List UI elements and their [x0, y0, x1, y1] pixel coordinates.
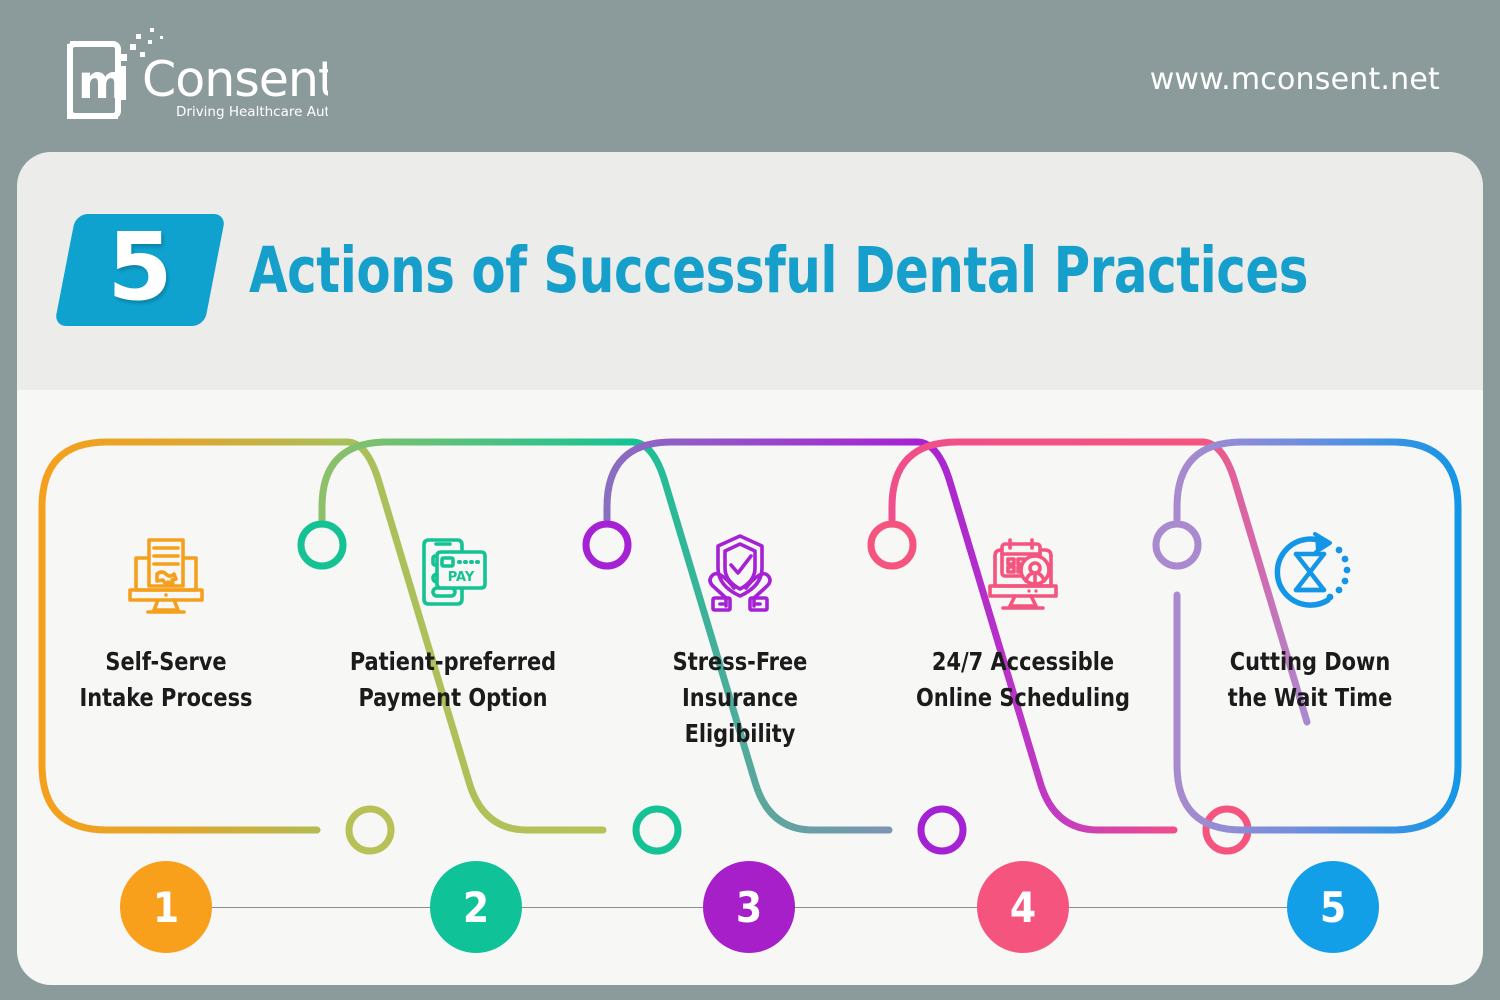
step-number-3[interactable]: 3	[703, 861, 795, 953]
step-number-5[interactable]: 5	[1287, 861, 1379, 953]
logo-tagline: Driving Healthcare Automation	[176, 104, 328, 120]
step-4-label: 24/7 Accessible Online Scheduling	[907, 644, 1140, 716]
step-5[interactable]: Cutting Down the Wait Time	[1185, 522, 1435, 716]
logo-mconsent[interactable]: m Consent Driving Healthcare Automation	[58, 24, 328, 124]
header-number-badge-text: 5	[65, 214, 215, 326]
step-4[interactable]: 24/7 Accessible Online Scheduling	[898, 522, 1148, 716]
header-panel: 5 Actions of Successful Dental Practices	[17, 152, 1483, 390]
svg-text:m: m	[78, 55, 126, 109]
svg-text:Consent: Consent	[142, 51, 328, 108]
hourglass-refresh-icon	[1185, 522, 1435, 622]
phone-credit-card-pay-icon: PAY	[328, 522, 578, 622]
step-3-label: Stress-Free Insurance Eligibility	[624, 644, 857, 752]
step-number-1[interactable]: 1	[120, 861, 212, 953]
step-3[interactable]: Stress-Free Insurance Eligibility	[615, 522, 865, 752]
monitor-document-signature-icon	[41, 522, 291, 622]
step-1[interactable]: Self-Serve Intake Process	[41, 522, 291, 716]
step-number-4[interactable]: 4	[977, 861, 1069, 953]
shield-check-hands-icon	[615, 522, 865, 622]
pay-label: PAY	[448, 570, 475, 585]
header-number-badge: 5	[54, 214, 226, 326]
step-2[interactable]: PAY Patient-preferred Payment Option	[328, 522, 578, 716]
step-ring-2-bottom	[636, 809, 678, 851]
page-title: Actions of Successful Dental Practices	[249, 214, 1308, 326]
step-ring-1-bottom	[349, 809, 391, 851]
step-number-2[interactable]: 2	[430, 861, 522, 953]
top-bar: m Consent Driving Healthcare Automation …	[0, 0, 1500, 152]
logo-svg: m Consent Driving Healthcare Automation	[58, 24, 328, 124]
monitor-calendar-person-icon	[898, 522, 1148, 622]
step-5-label: Cutting Down the Wait Time	[1194, 644, 1427, 716]
step-2-label: Patient-preferred Payment Option	[337, 644, 570, 716]
step-ring-3-bottom	[921, 809, 963, 851]
step-1-label: Self-Serve Intake Process	[50, 644, 283, 716]
site-url[interactable]: www.mconsent.net	[1150, 62, 1440, 97]
